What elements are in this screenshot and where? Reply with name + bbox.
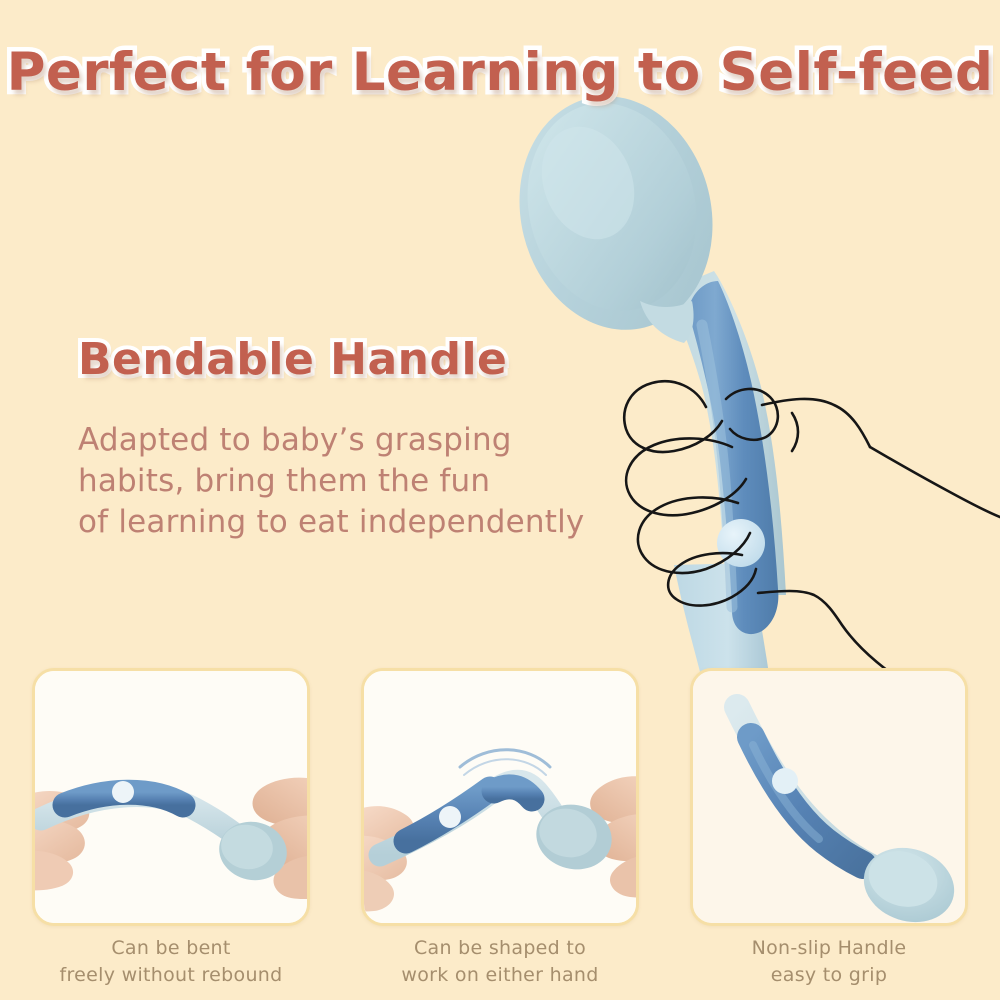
hero-illustration [470,95,1000,685]
product-infographic: Perfect for Learning to Self-feed Bendab… [0,0,1000,1000]
feature-card-row [0,668,1000,930]
caption-grip: Non-slip Handle easy to grip [690,935,968,995]
card-bend-illustration [35,671,307,923]
card-bend[interactable] [32,668,310,926]
grip-dot-icon [112,781,134,803]
caption-bend: Can be bent freely without rebound [32,935,310,995]
card-grip-illustration [693,671,965,923]
feature-description: Adapted to baby’s grasping habits, bring… [78,420,584,543]
grip-dot-icon [772,768,798,794]
feature-heading: Bendable Handle [78,334,507,385]
grip-dot-icon [439,806,461,828]
caption-row: Can be bent freely without rebound Can b… [0,935,1000,995]
card-shape-illustration [364,671,636,923]
page-title: Perfect for Learning to Self-feed [0,42,1000,103]
caption-shape: Can be shaped to work on either hand [361,935,639,995]
card-grip[interactable] [690,668,968,926]
hand-line-art-icon [624,381,1000,685]
card-shape[interactable] [361,668,639,926]
